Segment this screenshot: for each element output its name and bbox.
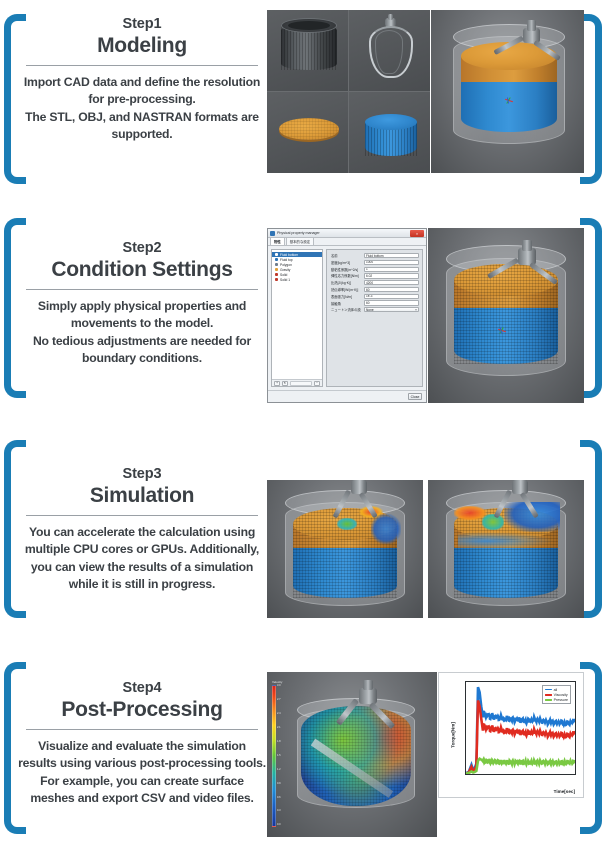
property-row-elastic-modulus: 弾性応力係数[N/m] 6.02 bbox=[331, 273, 419, 278]
colorbar-tick: 0.6 bbox=[277, 797, 284, 800]
legend-item-pressure: Pressure bbox=[545, 698, 568, 702]
colorbar-tick: 0.9 bbox=[277, 783, 284, 786]
property-row-specific-heat: 比熱[J/(kg·K)] 4200 bbox=[331, 280, 419, 285]
colorbar-tick: 2.4 bbox=[277, 713, 284, 716]
property-row-contact-angle: 接触角 60 bbox=[331, 300, 419, 305]
property-row-surface-tension: 表面張力[N/m] 1e-3 bbox=[331, 294, 419, 299]
step-description: You can accelerate the calculation using… bbox=[18, 524, 266, 593]
colorbar-tick: 3.0 bbox=[277, 685, 284, 688]
colorbar-tick: 1.5 bbox=[277, 755, 284, 758]
tree-toolbar: + ↻ − bbox=[272, 379, 322, 386]
property-label: 名前 bbox=[331, 253, 361, 258]
stirrer-shaft bbox=[527, 20, 536, 31]
property-input[interactable]: 1 bbox=[364, 267, 419, 272]
property-row-thermal-conductivity: 熱伝導率[W/(m·K)] 60 bbox=[331, 287, 419, 292]
stirrer-shaft bbox=[522, 240, 532, 251]
property-row-density: 密度[kg/m^3] 1000 bbox=[331, 260, 419, 265]
tree-item-label: Solid 1 bbox=[280, 278, 290, 282]
simulation-frame-1 bbox=[267, 480, 423, 618]
step-block-4: Step4 Post-Processing Visualize and eval… bbox=[0, 650, 606, 851]
app-icon bbox=[270, 231, 275, 236]
step-text-1: Step1 Modeling Import CAD data and defin… bbox=[18, 16, 266, 143]
step-text-4: Step4 Post-Processing Visualize and eval… bbox=[18, 680, 266, 807]
chart-series-pressure bbox=[466, 759, 575, 774]
colorbar-tick: 0.3 bbox=[277, 810, 284, 813]
torque-chart: Torque[Nm] Time[sec] 123456789 05101520 … bbox=[438, 672, 584, 798]
property-row-kinematic-viscosity: 動粘性係数[m^2/s] 1 bbox=[331, 267, 419, 272]
step-block-3: Step3 Simulation You can accelerate the … bbox=[0, 428, 606, 640]
colorbar-ticks: 3.0 2.7 2.4 2.1 1.8 1.5 1.2 0.9 0.6 0.3 bbox=[277, 685, 284, 827]
property-input[interactable]: 60 bbox=[364, 300, 419, 305]
property-select[interactable]: None bbox=[364, 307, 419, 312]
step-label: Step3 bbox=[18, 466, 266, 482]
item-color-swatch bbox=[275, 253, 278, 256]
property-label: 比熱[J/(kg·K)] bbox=[331, 280, 361, 285]
media-step-4: Velocity 3.0 2.7 2.4 2.1 1.8 1.5 1.2 bbox=[267, 672, 584, 837]
property-row-name: 名前 Fluid bottom bbox=[331, 253, 419, 258]
simulation-frame-2 bbox=[428, 480, 584, 618]
tab-basic-settings[interactable]: 基本的な設定 bbox=[286, 237, 314, 245]
property-tree[interactable]: Fluid bottom Fluid top Polygon bbox=[271, 249, 323, 387]
step-label: Step1 bbox=[18, 16, 266, 32]
close-icon[interactable]: × bbox=[410, 230, 424, 237]
chart-legend: all Viscosity Pressure bbox=[542, 685, 571, 704]
legend-swatch bbox=[545, 694, 552, 696]
tree-item-solid-1[interactable]: Solid 1 bbox=[272, 277, 322, 282]
step-label: Step4 bbox=[18, 680, 266, 696]
orange-disc bbox=[279, 118, 339, 140]
property-label: 表面張力[N/m] bbox=[331, 294, 361, 299]
cad-part-orange-disc bbox=[267, 92, 348, 173]
chart-x-label: Time[sec] bbox=[554, 789, 575, 794]
legend-label: all bbox=[554, 688, 558, 692]
property-fields-panel: 名前 Fluid bottom 密度[kg/m^3] 1000 動粘性係数[m^… bbox=[326, 249, 423, 387]
property-label: ニュートン流体の設定 bbox=[331, 307, 361, 312]
property-input[interactable]: 60 bbox=[364, 287, 419, 292]
dialog-body: Fluid bottom Fluid top Polygon bbox=[268, 246, 426, 390]
tree-item-label: Fluid bottom bbox=[280, 253, 298, 257]
property-label: 熱伝導率[W/(m·K)] bbox=[331, 287, 361, 292]
legend-label: Viscosity bbox=[554, 693, 568, 697]
media-step-2: Physical property manager × 物性 基本的な設定 bbox=[267, 228, 584, 403]
close-button[interactable]: Close bbox=[408, 393, 422, 400]
item-color-swatch bbox=[275, 278, 278, 281]
step-title: Post-Processing bbox=[18, 698, 266, 722]
cad-part-impeller bbox=[349, 10, 430, 91]
property-input[interactable]: 6.02 bbox=[364, 273, 419, 278]
legend-swatch bbox=[545, 699, 552, 701]
item-color-swatch bbox=[275, 263, 278, 266]
title-divider bbox=[26, 729, 258, 730]
item-color-swatch bbox=[275, 268, 278, 271]
axis-triad bbox=[498, 324, 510, 336]
item-color-swatch bbox=[275, 273, 278, 276]
property-label: 弾性応力係数[N/m] bbox=[331, 273, 361, 278]
property-input[interactable]: 4200 bbox=[364, 280, 419, 285]
add-item-button[interactable]: + bbox=[274, 381, 280, 386]
toolbar-spacer bbox=[290, 381, 312, 386]
colorbar-tick: 1.8 bbox=[277, 741, 284, 744]
cad-parts-grid bbox=[267, 10, 430, 173]
step-text-2: Step2 Condition Settings Simply apply ph… bbox=[18, 240, 266, 367]
title-divider bbox=[26, 65, 258, 66]
colorbar-tick: 1.2 bbox=[277, 769, 284, 772]
step-label: Step2 bbox=[18, 240, 266, 256]
legend-swatch bbox=[545, 689, 552, 691]
property-input[interactable]: Fluid bottom bbox=[364, 253, 419, 258]
dialog-tabs: 物性 基本的な設定 bbox=[268, 238, 426, 246]
physical-property-manager-dialog[interactable]: Physical property manager × 物性 基本的な設定 bbox=[267, 228, 427, 403]
remove-item-button[interactable]: − bbox=[314, 381, 320, 386]
property-row-newtonian-fluid: ニュートン流体の設定 None bbox=[331, 307, 419, 312]
colorbar-gradient bbox=[272, 685, 276, 827]
colorbar-tick: 2.1 bbox=[277, 727, 284, 730]
media-step-3 bbox=[267, 480, 584, 618]
step-title: Simulation bbox=[18, 484, 266, 508]
tab-properties[interactable]: 物性 bbox=[270, 237, 285, 245]
duplicate-item-button[interactable]: ↻ bbox=[282, 381, 288, 386]
particle-model-view bbox=[428, 228, 584, 403]
step-title: Modeling bbox=[18, 34, 266, 58]
dialog-footer: Close bbox=[268, 390, 426, 402]
chart-plot-area: 123456789 05101520 all Viscosity bbox=[465, 681, 576, 775]
item-color-swatch bbox=[275, 258, 278, 261]
property-label: 動粘性係数[m^2/s] bbox=[331, 267, 361, 272]
step-block-1: Step1 Modeling Import CAD data and defin… bbox=[0, 0, 606, 200]
infographic-page: Step1 Modeling Import CAD data and defin… bbox=[0, 0, 606, 851]
legend-item-viscosity: Viscosity bbox=[545, 693, 568, 697]
colorbar-tick: 2.7 bbox=[277, 699, 284, 702]
legend-label: Pressure bbox=[554, 698, 568, 702]
property-label: 接触角 bbox=[331, 301, 361, 306]
media-step-1 bbox=[267, 10, 584, 173]
chart-y-label: Torque[Nm] bbox=[450, 722, 455, 748]
colorbar: Velocity 3.0 2.7 2.4 2.1 1.8 1.5 1.2 bbox=[272, 680, 284, 827]
title-divider bbox=[26, 289, 258, 290]
tree-item-label: Polygon bbox=[280, 263, 292, 267]
axis-triad bbox=[505, 94, 517, 106]
cad-part-vessel bbox=[267, 10, 348, 91]
tree-items: Fluid bottom Fluid top Polygon bbox=[272, 250, 322, 379]
dialog-title: Physical property manager bbox=[277, 231, 320, 235]
step-text-3: Step3 Simulation You can accelerate the … bbox=[18, 466, 266, 593]
assembled-model-view bbox=[431, 10, 584, 173]
step-block-2: Step2 Condition Settings Simply apply ph… bbox=[0, 208, 606, 416]
cad-part-blue-cylinder bbox=[349, 92, 430, 173]
step-description: Import CAD data and define the resolutio… bbox=[18, 74, 266, 143]
property-input[interactable]: 1e-3 bbox=[364, 294, 419, 299]
step-description: Visualize and evaluate the simulation re… bbox=[18, 738, 266, 807]
tree-item-label: Fluid top bbox=[280, 258, 293, 262]
property-input[interactable]: 1000 bbox=[364, 260, 419, 265]
colorbar-tick: 0.0 bbox=[277, 824, 284, 827]
legend-item-all: all bbox=[545, 688, 568, 692]
step-title: Condition Settings bbox=[18, 258, 266, 282]
property-label: 密度[kg/m^3] bbox=[331, 260, 361, 265]
step-description: Simply apply physical properties and mov… bbox=[18, 298, 266, 367]
postprocess-view: Velocity 3.0 2.7 2.4 2.1 1.8 1.5 1.2 bbox=[267, 672, 437, 837]
tree-item-label: Solid bbox=[280, 273, 287, 277]
title-divider bbox=[26, 515, 258, 516]
tree-item-label: Gravity bbox=[280, 268, 290, 272]
